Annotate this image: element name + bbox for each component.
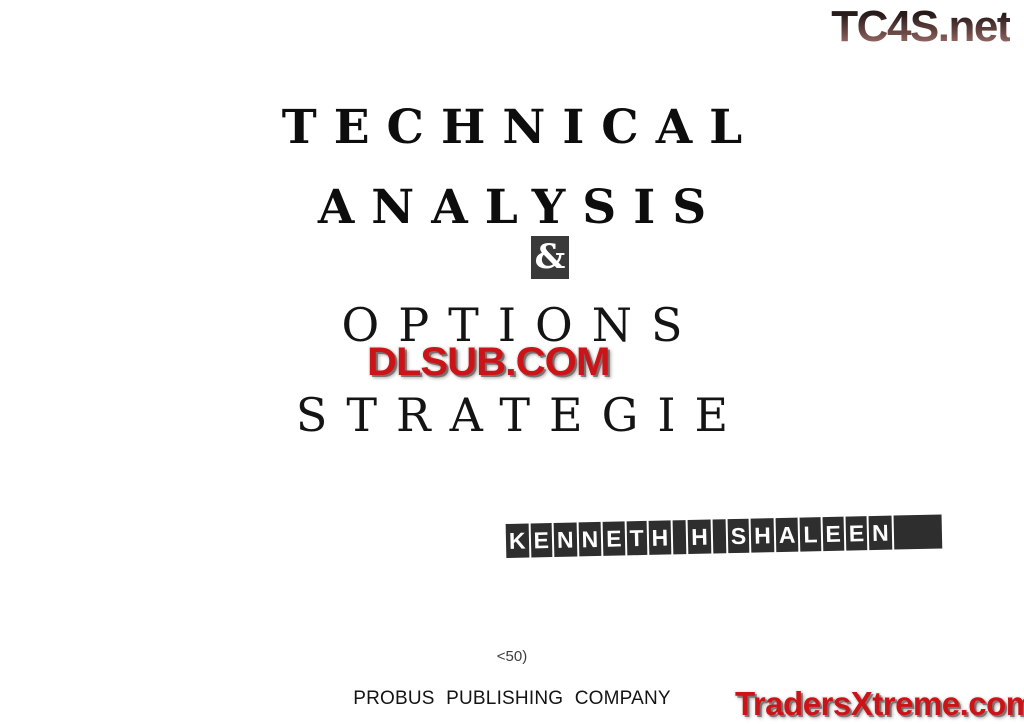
author-letter-tile: E <box>530 523 552 557</box>
cover-title-strategie: STRATEGIE <box>0 388 1024 442</box>
cover-title-technical: TECHNICAL <box>0 100 1024 155</box>
author-space-tile <box>712 519 726 553</box>
author-letter-tile: H <box>751 518 774 552</box>
author-letter-tile: S <box>727 519 749 553</box>
author-letter-tile: T <box>626 521 647 555</box>
ampersand-tile: & <box>531 236 569 279</box>
scan-artifact-text: <50) <box>0 648 1024 665</box>
author-letter-tile: E <box>845 516 867 550</box>
book-cover-scan: TC4S.net TECHNICAL ANALYSIS & OPTIONS DL… <box>0 0 1024 724</box>
tc4s-watermark: TC4S.net <box>831 2 1010 52</box>
tradersxtreme-watermark: TradersXtreme.com <box>735 685 1024 723</box>
author-letter-tile: E <box>822 517 844 551</box>
author-letter-tile: N <box>869 516 892 550</box>
author-blank-tile <box>893 514 942 549</box>
cover-title-analysis: ANALYSIS <box>0 180 1024 235</box>
author-letter-tile: A <box>775 518 798 552</box>
author-letter-tile: H <box>648 520 671 554</box>
dlsub-watermark: DLSUB.COM <box>367 340 610 385</box>
author-name-strip: K E N N E T H H S H A L E E N <box>506 514 942 557</box>
author-letter-tile: H <box>688 520 711 554</box>
ampersand-glyph: & <box>535 240 566 274</box>
author-letter-tile: E <box>603 521 625 555</box>
author-letter-tile: K <box>506 524 529 558</box>
author-letter-tile: N <box>554 522 577 556</box>
author-space-tile <box>673 520 687 554</box>
author-letter-tile: L <box>800 517 821 551</box>
author-letter-tile: N <box>578 522 601 556</box>
